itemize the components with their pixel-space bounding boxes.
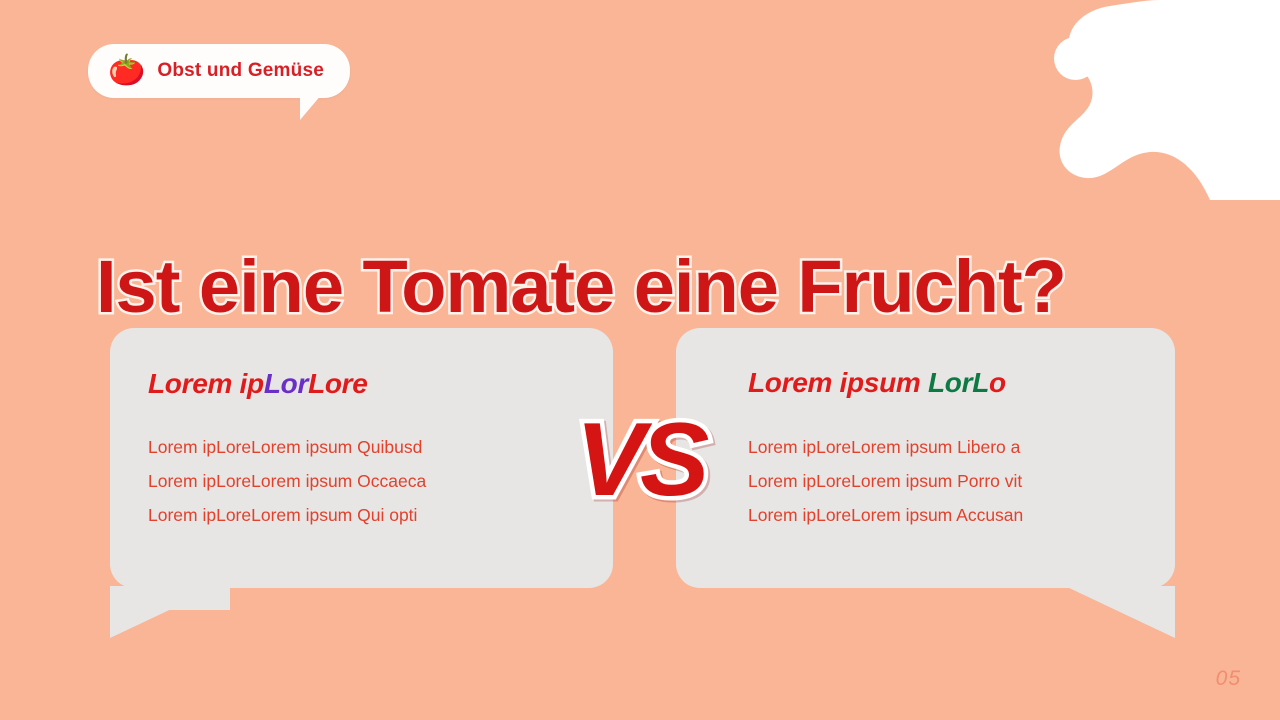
card-right-heading: Lorem ipsum LorLo — [748, 367, 1006, 399]
list-item: Lorem ipLoreLorem ipsum Occaeca — [148, 464, 426, 498]
card-right-heading-part-2: LorL — [928, 367, 989, 398]
tomato-icon: 🍅 — [108, 56, 145, 86]
decorative-dot-circle — [1054, 37, 1097, 80]
vs-badge: VS — [541, 398, 739, 522]
badge-tail — [300, 94, 322, 120]
card-left-heading: Lorem ipLorLore — [148, 368, 368, 400]
card-right-body: Lorem ipLoreLorem ipsum Libero a Lorem i… — [748, 430, 1023, 532]
list-item: Lorem ipLoreLorem ipsum Quibusd — [148, 430, 426, 464]
background-blob-shape — [960, 0, 1280, 200]
list-item: Lorem ipLoreLorem ipsum Accusan — [748, 498, 1023, 532]
card-right-tail — [1055, 586, 1175, 646]
slide-canvas: 🍅 Obst und Gemüse Ist eine Tomate eine F… — [0, 0, 1280, 720]
slide-title: Ist eine Tomate eine Frucht? — [96, 248, 1196, 326]
list-item: Lorem ipLoreLorem ipsum Qui opti — [148, 498, 426, 532]
card-left-heading-part-3: Lore — [308, 368, 367, 399]
card-left-heading-part-1: Lorem ip — [148, 368, 264, 399]
page-number: 05 — [1216, 667, 1241, 691]
list-item: Lorem ipLoreLorem ipsum Porro vit — [748, 464, 1023, 498]
category-badge-label: Obst und Gemüse — [157, 60, 324, 82]
card-left-heading-part-2: Lor — [264, 368, 308, 399]
card-left-tail — [110, 586, 230, 646]
category-badge[interactable]: 🍅 Obst und Gemüse — [88, 44, 350, 98]
card-left-body: Lorem ipLoreLorem ipsum Quibusd Lorem ip… — [148, 430, 426, 532]
card-right-heading-part-3: o — [989, 367, 1006, 398]
card-right-heading-part-1: Lorem ipsum — [748, 367, 928, 398]
list-item: Lorem ipLoreLorem ipsum Libero a — [748, 430, 1023, 464]
